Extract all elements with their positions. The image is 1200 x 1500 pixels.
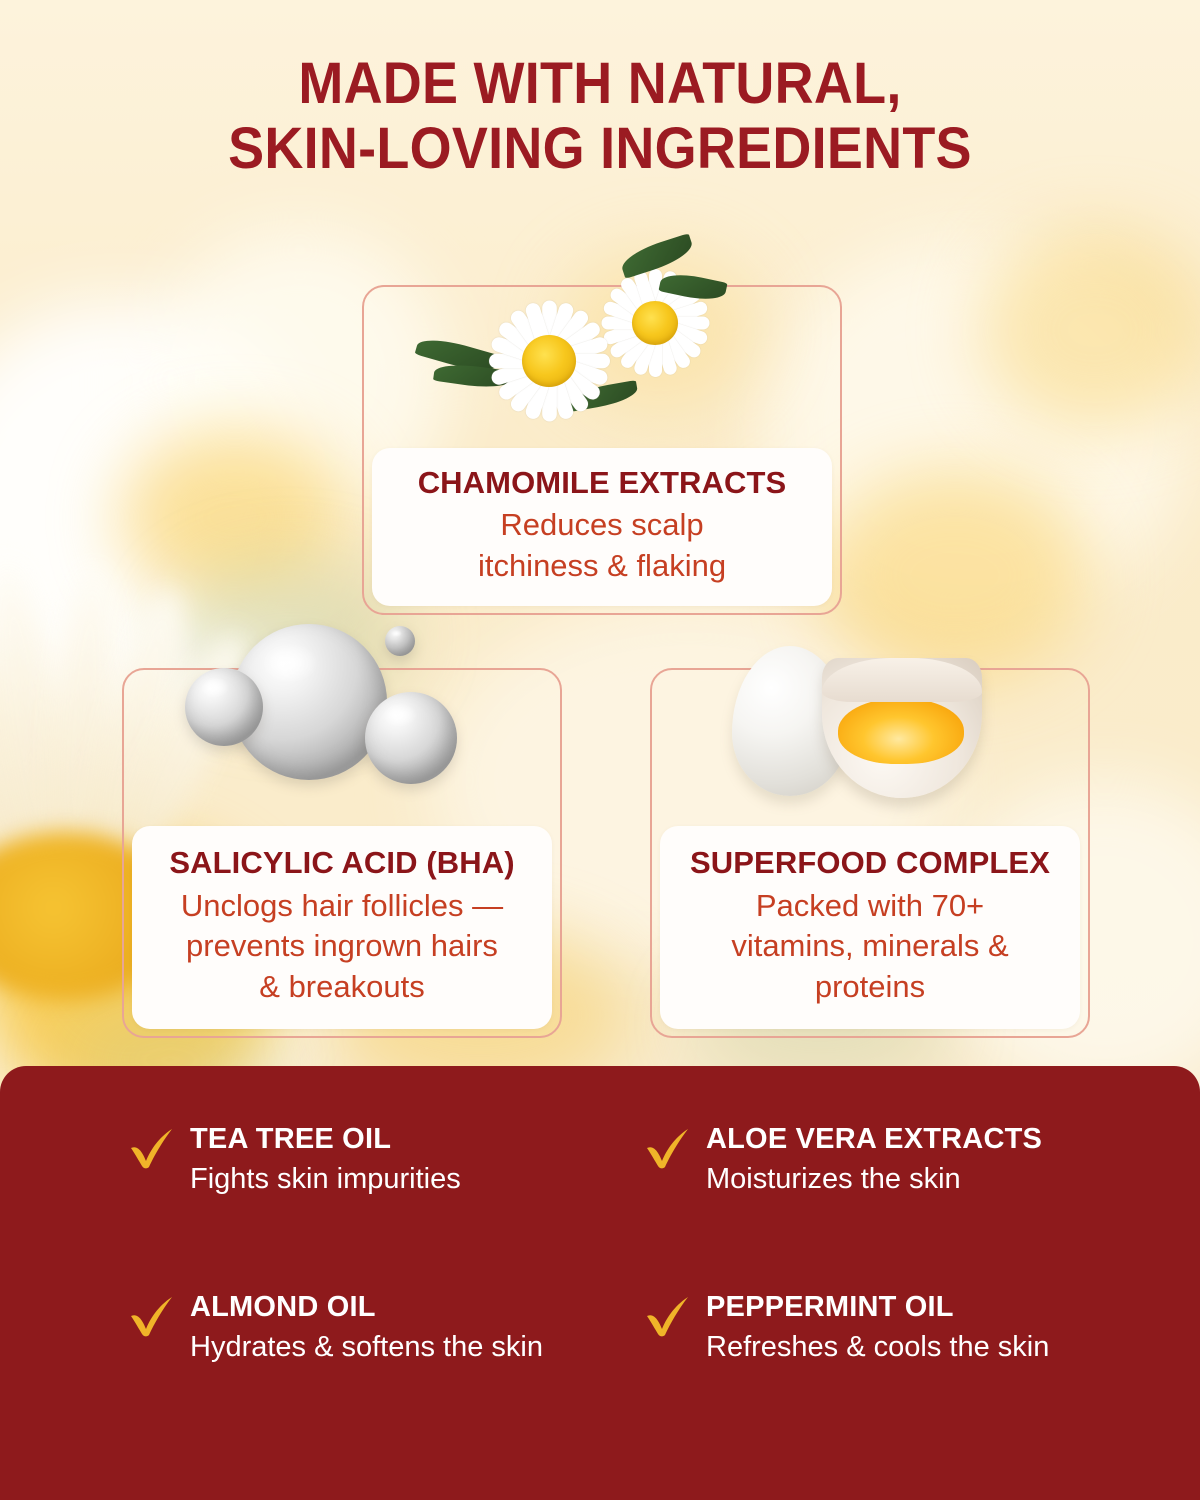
benefit-title: ALMOND OIL — [190, 1292, 614, 1324]
page-title-line-2: SKIN-LOVING INGREDIENTS — [42, 117, 1158, 182]
benefit-item-tea-tree-oil: TEA TREE OIL Fights skin impurities — [128, 1124, 614, 1292]
daisy-leaf — [567, 380, 639, 412]
superfood-description-line-2: vitamins, minerals & — [676, 926, 1064, 966]
bha-image-label: BHA — [231, 660, 367, 729]
salicylic-acid-description-line-1: Unclogs hair follicles — — [148, 886, 536, 926]
benefit-item-almond-oil: ALMOND OIL Hydrates & softens the skin — [128, 1292, 614, 1460]
salicylic-acid-description-line-2: prevents ingrown hairs — [148, 926, 536, 966]
benefit-description: Fights skin impurities — [190, 1161, 590, 1199]
background-bokeh-yellow — [980, 230, 1200, 430]
benefit-item-aloe-vera-extracts: ALOE VERA EXTRACTS Moisturizes the skin — [644, 1124, 1130, 1292]
checkmark-icon — [644, 1126, 692, 1170]
bha-sphere-small — [185, 668, 263, 746]
chamomile-description-line-1: Reduces scalp — [386, 505, 818, 545]
checkmark-icon — [644, 1294, 692, 1338]
salicylic-acid-title: SALICYLIC ACID (BHA) — [148, 846, 536, 881]
chamomile-title: CHAMOMILE EXTRACTS — [386, 466, 818, 501]
ingredients-infographic: MADE WITH NATURAL, SKIN-LOVING INGREDIEN… — [0, 0, 1200, 1500]
ingredient-card-chamomile: CHAMOMILE EXTRACTS Reduces scalp itchine… — [362, 285, 842, 615]
benefit-title: PEPPERMINT OIL — [706, 1292, 1130, 1324]
benefit-title: ALOE VERA EXTRACTS — [706, 1124, 1130, 1156]
egg-yolk — [838, 698, 964, 764]
whole-egg — [732, 646, 848, 796]
bha-sphere-small — [365, 692, 457, 784]
superfood-description: Packed with 70+ vitamins, minerals & pro… — [676, 886, 1064, 1007]
daisy-leaf — [415, 333, 502, 377]
superfood-text-panel: SUPERFOOD COMPLEX Packed with 70+ vitami… — [660, 826, 1080, 1029]
daisy-center — [632, 301, 678, 345]
superfood-description-line-3: proteins — [676, 967, 1064, 1007]
background-bokeh-yellow — [820, 470, 1090, 680]
cracked-egg-shell — [822, 658, 982, 798]
ingredient-card-salicylic-acid: BHA SALICYLIC ACID (BHA) Unclogs hair fo… — [122, 668, 562, 1038]
checkmark-icon — [128, 1126, 176, 1170]
benefit-item-peppermint-oil: PEPPERMINT OIL Refreshes & cools the ski… — [644, 1292, 1130, 1460]
salicylic-acid-description: Unclogs hair follicles — prevents ingrow… — [148, 886, 536, 1007]
daisy-center — [522, 335, 576, 387]
chamomile-text-panel: CHAMOMILE EXTRACTS Reduces scalp itchine… — [372, 448, 832, 606]
benefit-description: Refreshes & cools the skin — [706, 1329, 1106, 1367]
benefits-grid: TEA TREE OIL Fights skin impurities ALOE… — [0, 1066, 1200, 1500]
superfood-title: SUPERFOOD COMPLEX — [676, 846, 1064, 881]
benefits-panel: TEA TREE OIL Fights skin impurities ALOE… — [0, 1066, 1200, 1500]
salicylic-acid-description-line-3: & breakouts — [148, 967, 536, 1007]
superfood-description-line-1: Packed with 70+ — [676, 886, 1064, 926]
chamomile-description: Reduces scalp itchiness & flaking — [386, 505, 818, 586]
benefit-description: Hydrates & softens the skin — [190, 1329, 590, 1367]
page-title: MADE WITH NATURAL, SKIN-LOVING INGREDIEN… — [42, 52, 1158, 182]
benefit-description: Moisturizes the skin — [706, 1161, 1106, 1199]
ingredient-card-superfood-complex: SUPERFOOD COMPLEX Packed with 70+ vitami… — [650, 668, 1090, 1038]
checkmark-icon — [128, 1294, 176, 1338]
daisy-flower-front — [456, 268, 642, 454]
daisy-leaf — [433, 361, 513, 392]
chamomile-description-line-2: itchiness & flaking — [386, 546, 818, 586]
benefit-title: TEA TREE OIL — [190, 1124, 614, 1156]
salicylic-acid-text-panel: SALICYLIC ACID (BHA) Unclogs hair follic… — [132, 826, 552, 1029]
page-title-line-1: MADE WITH NATURAL, — [42, 52, 1158, 117]
